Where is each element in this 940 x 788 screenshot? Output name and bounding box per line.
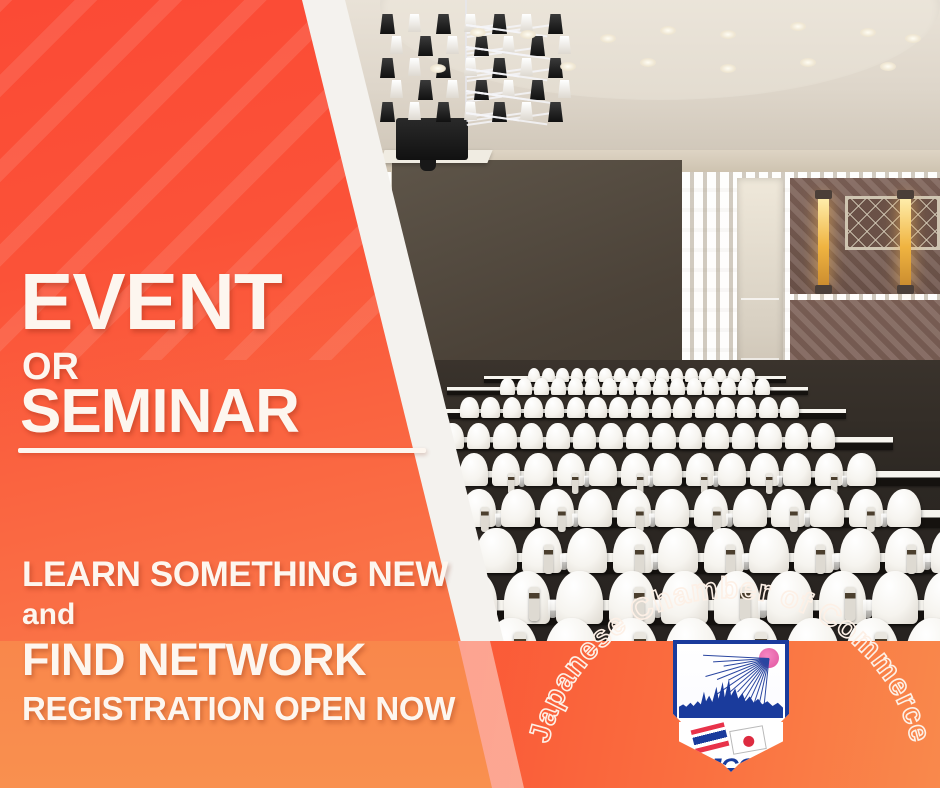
chair xyxy=(588,397,607,418)
ceiling-downlight xyxy=(600,34,616,43)
chair xyxy=(718,453,746,485)
chair xyxy=(492,453,520,485)
wall-sconce-left xyxy=(818,196,829,288)
ceiling-downlight xyxy=(790,22,806,31)
chair xyxy=(652,397,671,418)
jcc-shield: JCC JAPANESE CHAMBER OF COMMERCE BANGKOK xyxy=(673,640,789,772)
ceiling-downlight xyxy=(905,34,921,43)
jcc-logo: Japanese Chamber of Commerce JCC xyxy=(520,548,940,788)
subhead-find-network: FIND NETWORK xyxy=(22,634,366,686)
ceiling-downlight xyxy=(560,62,576,71)
chair xyxy=(517,378,532,395)
chair xyxy=(732,423,755,449)
chair xyxy=(589,453,617,485)
ceiling-downlight xyxy=(430,64,446,73)
projector-lens xyxy=(420,160,436,171)
chair xyxy=(599,423,622,449)
chair xyxy=(524,453,552,485)
chair xyxy=(568,378,583,395)
chair xyxy=(687,378,702,395)
chair xyxy=(694,489,728,528)
chair xyxy=(585,378,600,395)
chair xyxy=(631,397,650,418)
chair xyxy=(750,453,778,485)
ceiling-downlight xyxy=(720,30,736,39)
chair xyxy=(617,489,651,528)
chair xyxy=(783,453,811,485)
chandelier-shade xyxy=(548,14,563,34)
ceiling-downlight xyxy=(640,58,656,67)
chair xyxy=(652,423,675,449)
chair xyxy=(785,423,808,449)
chair xyxy=(849,489,883,528)
chandelier-bulb xyxy=(408,102,421,120)
chair xyxy=(695,397,714,418)
chair xyxy=(780,397,799,418)
wall-sconce-right xyxy=(900,196,911,288)
chair xyxy=(546,423,569,449)
chair xyxy=(573,423,596,449)
chair xyxy=(567,397,586,418)
subhead-learn-something-new: LEARN SOMETHING NEW xyxy=(22,555,448,595)
chair xyxy=(705,423,728,449)
chair xyxy=(481,397,500,418)
chair xyxy=(721,378,736,395)
ceiling-downlight xyxy=(470,28,486,37)
chair xyxy=(733,489,767,528)
water-bottle xyxy=(481,507,489,532)
chair xyxy=(619,378,634,395)
chair xyxy=(811,423,834,449)
ceiling-downlight xyxy=(660,26,676,35)
chair xyxy=(621,453,649,485)
chair xyxy=(673,397,692,418)
chair xyxy=(704,378,719,395)
chandelier-bulb xyxy=(558,36,571,54)
subhead-registration-open: REGISTRATION OPEN NOW xyxy=(22,690,455,728)
chair xyxy=(626,423,649,449)
chair xyxy=(755,378,770,395)
event-seminar-poster: ご席 EVENT OR SEMINAR LEARN SOMETHING NEW … xyxy=(0,0,940,788)
headline-event: EVENT xyxy=(20,264,282,340)
chair xyxy=(815,453,843,485)
chandelier-shade xyxy=(380,58,395,78)
chair xyxy=(738,378,753,395)
chair xyxy=(887,489,921,528)
chair xyxy=(520,423,543,449)
chandelier-bulb xyxy=(446,80,459,98)
chair xyxy=(602,378,617,395)
chandelier-bulb xyxy=(446,36,459,54)
chandelier-shade xyxy=(418,36,433,56)
water-bottle xyxy=(572,473,578,494)
chandelier-shade xyxy=(548,102,563,122)
chair xyxy=(759,397,778,418)
chandelier-shade xyxy=(380,102,395,122)
water-bottle xyxy=(766,473,772,494)
chair xyxy=(503,397,522,418)
chair xyxy=(467,423,490,449)
shield-lower-field: JCC JAPANESE CHAMBER OF COMMERCE BANGKOK xyxy=(679,722,783,768)
chair xyxy=(501,489,535,528)
chandelier-shade xyxy=(436,102,451,122)
chair xyxy=(551,378,566,395)
headline-underline xyxy=(18,448,426,453)
chair xyxy=(500,378,515,395)
headline-seminar: SEMINAR xyxy=(20,381,299,443)
chair xyxy=(653,378,668,395)
chandelier-shade xyxy=(380,14,395,34)
chandelier-shade xyxy=(530,80,545,100)
chair xyxy=(653,453,681,485)
chair xyxy=(686,453,714,485)
chair xyxy=(716,397,735,418)
chair xyxy=(847,453,875,485)
chair xyxy=(460,397,479,418)
chandelier-bulb xyxy=(558,80,571,98)
chair xyxy=(578,489,612,528)
chandelier-shade xyxy=(474,36,489,56)
chandelier-shade xyxy=(530,36,545,56)
chair xyxy=(670,378,685,395)
chandelier-bulb xyxy=(520,102,533,120)
ceiling-downlight xyxy=(880,62,896,71)
chair xyxy=(493,423,516,449)
chandelier-bulb xyxy=(390,80,403,98)
water-bottle xyxy=(790,507,798,532)
chair xyxy=(534,378,549,395)
chair xyxy=(557,453,585,485)
chair xyxy=(655,489,689,528)
ceiling-downlight xyxy=(520,30,536,39)
ceiling-downlight xyxy=(860,28,876,37)
chair xyxy=(679,423,702,449)
ceiling-downlight xyxy=(800,58,816,67)
chair xyxy=(636,378,651,395)
water-bottle xyxy=(558,507,566,532)
chair xyxy=(737,397,756,418)
subhead-connector: and xyxy=(22,598,75,632)
water-bottle xyxy=(867,507,875,532)
chair xyxy=(545,397,564,418)
chair xyxy=(524,397,543,418)
chandelier-bulb xyxy=(390,36,403,54)
chandelier xyxy=(360,0,590,140)
chair xyxy=(810,489,844,528)
chandelier-bulb xyxy=(408,58,421,76)
chandelier-shade xyxy=(418,80,433,100)
ceiling-downlight xyxy=(720,64,736,73)
chandelier-shade xyxy=(474,80,489,100)
chandelier-bulb xyxy=(520,58,533,76)
shield-upper-field xyxy=(679,646,783,718)
chair xyxy=(758,423,781,449)
chair xyxy=(540,489,574,528)
chair xyxy=(771,489,805,528)
chandelier-bulb xyxy=(408,14,421,32)
wall-grille xyxy=(845,196,940,250)
chandelier-shade xyxy=(436,14,451,34)
chair xyxy=(609,397,628,418)
